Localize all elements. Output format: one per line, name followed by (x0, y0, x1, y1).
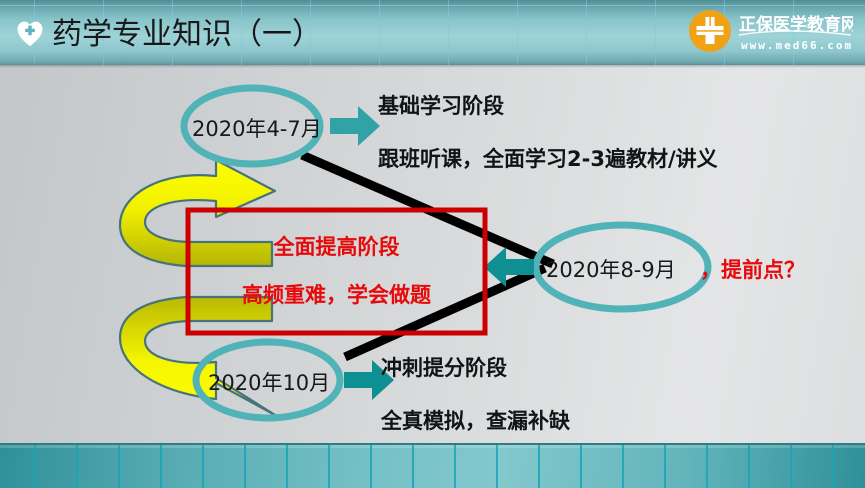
footer-gridline (538, 445, 540, 488)
brand-name: 正保医学教育网 (739, 14, 853, 35)
slide-header: 药学专业知识（一） 正保医学教育网 www.med66.com (0, 0, 865, 65)
slide-footer (0, 443, 865, 488)
phase-2-ellipse (536, 225, 708, 309)
red-box-title: 全面提高阶段 (188, 231, 485, 261)
footer-gridline (244, 445, 246, 488)
footer-gridline (118, 445, 120, 488)
footer-gridline (202, 445, 204, 488)
footer-gridline (34, 445, 36, 488)
header-gridline-v (517, 0, 518, 65)
desc-1-detail: 跟班听课，全面学习2-3遍教材/讲义 (378, 143, 718, 173)
footer-gridline (412, 445, 414, 488)
brand-url: www.med66.com (741, 39, 853, 52)
note-ahead-label: ，提前点？ (700, 254, 805, 284)
footer-gridline (328, 445, 330, 488)
brand-logo[interactable]: 正保医学教育网 www.med66.com (683, 4, 853, 58)
header-gridline-v (448, 0, 449, 65)
footer-gridline (622, 445, 624, 488)
phase-1-ellipse (184, 88, 320, 164)
diagram-canvas: 2020年4-7月 2020年8-9月 2020年10月 ，提前点？ 基础学习阶… (0, 65, 865, 445)
footer-gridline (286, 445, 288, 488)
footer-gridline (76, 445, 78, 488)
footer-gridline (370, 445, 372, 488)
header-gridline-v (379, 0, 380, 65)
footer-sheen (0, 445, 865, 448)
footer-gridline (454, 445, 456, 488)
heart-plus-icon (16, 20, 44, 47)
header-gridline-v (655, 0, 656, 65)
page-title: 药学专业知识（一） (52, 9, 322, 53)
red-box-detail: 高频重难，学会做题 (188, 279, 485, 309)
footer-gridline (748, 445, 750, 488)
desc-1-title: 基础学习阶段 (378, 90, 504, 120)
footer-gridline (832, 445, 834, 488)
header-gridline-v (586, 0, 587, 65)
footer-gridline (580, 445, 582, 488)
arrow-right-phase-1 (330, 106, 380, 146)
footer-gridline (790, 445, 792, 488)
footer-gridline (496, 445, 498, 488)
footer-gridline (706, 445, 708, 488)
footer-gridline (160, 445, 162, 488)
footer-gridline (664, 445, 666, 488)
desc-3-detail: 全真模拟，查漏补缺 (381, 405, 570, 435)
desc-3-title: 冲刺提分阶段 (381, 352, 507, 382)
slide: 药学专业知识（一） 正保医学教育网 www.med66.com (0, 0, 865, 488)
curved-arrow-down (120, 297, 275, 415)
